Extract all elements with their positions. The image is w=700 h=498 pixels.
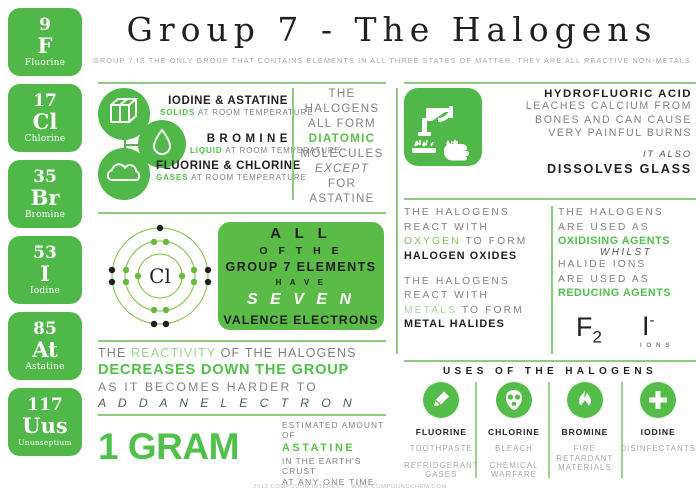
oxidising-agents-label: OXIDISING AGENTS <box>558 235 694 247</box>
reducing-agents-label: REDUCING AGENTS <box>558 287 694 299</box>
toothpaste-tube-icon <box>423 382 459 418</box>
liquid-sub: LIQUID AT ROOM TEMPERATURE <box>190 146 288 155</box>
fluorine-symbol: F <box>576 312 593 342</box>
fluorine-molecule-formula: F2 <box>576 312 602 347</box>
use-chlorine-name: CHLORINE <box>479 427 550 437</box>
divider <box>404 198 696 200</box>
element-tile: 17 Cl Chlorine <box>8 84 82 152</box>
reaction-oxygen-line-2: REACT WITH <box>404 221 546 236</box>
use-chlorine: CHLORINE BLEACH CHEMICAL WARFARE <box>479 382 550 482</box>
atom-symbol-label: Cl <box>149 264 171 288</box>
element-tile: 117 Uus Ununseptium <box>8 388 82 456</box>
element-tiles-column: 9 F Fluorine 17 Cl Chlorine 35 Br Bromin… <box>8 8 86 464</box>
iodide-ion-formula: I- <box>642 311 655 342</box>
astatine-description: ESTIMATED AMOUNT OF ASTATINE IN THE EART… <box>282 420 390 487</box>
atomic-number: 85 <box>33 321 57 338</box>
astatine-desc-3: IN THE EARTH'S CRUST <box>282 456 390 476</box>
divider <box>98 340 386 342</box>
hydrofluoric-icon-box <box>404 88 482 166</box>
reaction-metals-product: METAL HALIDES <box>404 318 546 330</box>
divider <box>404 82 696 84</box>
valence-line-1: A L L <box>270 225 332 242</box>
diatomic-line-1: THE <box>298 86 386 101</box>
valence-line-6: VALENCE ELECTRONS <box>223 313 378 327</box>
reaction-oxygen-product: HALOGEN OXIDES <box>404 250 546 262</box>
element-tile: 53 I Iodine <box>8 236 82 304</box>
cloud-icon <box>107 160 141 189</box>
element-name: Fluorine <box>25 59 65 68</box>
gases-state-rest: AT ROOM TEMPERATURE <box>189 173 307 182</box>
gases-state-word: GASES <box>156 173 189 182</box>
atomic-number: 9 <box>39 17 51 34</box>
reactivity-suffix: OF THE HALOGENS <box>216 346 357 360</box>
bohr-diagram: Cl <box>104 222 216 330</box>
cube-icon <box>109 98 139 131</box>
element-name: Bromine <box>25 211 65 220</box>
astatine-desc-1: ESTIMATED AMOUNT OF <box>282 420 390 440</box>
reaction-metals-line-2: REACT WITH <box>404 289 546 304</box>
valence-electrons-box: A L L O F T H E GROUP 7 ELEMENTS H A V E… <box>218 222 384 330</box>
corrosive-hazard-icon <box>404 88 482 166</box>
reaction-oxygen-rest: TO FORM <box>461 236 528 247</box>
gases-label: FLUORINE & CHLORINE GASES AT ROOM TEMPER… <box>156 160 288 182</box>
iodide-symbol: I <box>642 311 650 341</box>
divider <box>98 212 386 214</box>
agents-line-2: ARE USED AS <box>558 221 694 236</box>
diatomic-line-3: ALL FORM <box>298 116 386 131</box>
reactivity-line-3: AS IT BECOMES HARDER TO <box>98 380 386 394</box>
hydrofluoric-heading: HYDROFLUORIC ACID <box>496 88 692 100</box>
header: Group 7 - The Halogens GROUP 7 IS THE ON… <box>92 10 692 65</box>
infographic-page: 9 F Fluorine 17 Cl Chlorine 35 Br Bromin… <box>0 0 700 498</box>
diatomic-line-7: FOR <box>298 176 386 191</box>
use-fluorine-name: FLUORINE <box>404 427 479 437</box>
use-fluorine-2: REFRIDGERANT GASES <box>404 461 479 480</box>
element-tile: 85 At Astatine <box>8 312 82 380</box>
valence-line-2: O F T H E <box>259 245 342 257</box>
astatine-amount: 1 GRAM <box>98 426 239 468</box>
atomic-number: 35 <box>33 169 57 186</box>
reactions-panel: THE HALOGENS REACT WITH OXYGEN TO FORM H… <box>404 206 546 330</box>
element-symbol: I <box>40 263 50 284</box>
droplet-icon <box>152 128 172 161</box>
solids-state-rest: AT ROOM TEMPERATURE <box>195 108 313 117</box>
agents-panel: THE HALOGENS ARE USED AS OXIDISING AGENT… <box>558 206 694 299</box>
element-symbol: Uus <box>22 415 67 436</box>
element-symbol: At <box>32 339 58 360</box>
use-fluorine: FLUORINE TOOTHPASTE REFRIDGERANT GASES <box>404 382 479 482</box>
gases-sub: GASES AT ROOM TEMPERATURE <box>156 173 288 182</box>
use-bromine-name: BROMINE <box>549 427 620 437</box>
liquid-state-word: LIQUID <box>190 146 223 155</box>
page-subtitle: GROUP 7 IS THE ONLY GROUP THAT CONTAINS … <box>92 56 692 65</box>
divider <box>551 206 553 354</box>
liquid-headline: B R O M I N E <box>190 133 288 145</box>
reaction-metals-line-3: METALS TO FORM <box>404 304 546 319</box>
reaction-metals-rest: TO FORM <box>457 305 524 316</box>
valence-line-3: GROUP 7 ELEMENTS <box>226 260 377 274</box>
reaction-oxygen-line-3: OXYGEN TO FORM <box>404 235 546 250</box>
reactivity-prefix: THE <box>98 346 131 360</box>
divider <box>404 360 696 362</box>
use-iodine-2: DISINFECTANTS <box>620 444 696 454</box>
element-tile: 35 Br Bromine <box>8 160 82 228</box>
use-iodine-name: IODINE <box>620 427 696 437</box>
element-symbol: Cl <box>33 111 58 132</box>
hydrofluoric-body-1: LEACHES CALCIUM FROM <box>496 100 692 114</box>
reactivity-panel: THE REACTIVITY OF THE HALOGENS DECREASES… <box>98 346 386 410</box>
reactivity-line-4: A D D A N E L E C T R O N <box>98 396 386 410</box>
use-chlorine-1: BLEACH <box>479 444 550 454</box>
use-bromine-2: FIRE RETARDANT MATERIALS <box>549 444 620 473</box>
gases-headline: FLUORINE & CHLORINE <box>156 160 288 172</box>
divider <box>292 88 294 200</box>
reaction-metals-keyword: METALS <box>404 305 457 316</box>
agents-line-1: THE HALOGENS <box>558 206 694 221</box>
diatomic-line-2: HALOGENS <box>298 101 386 116</box>
liquid-label: B R O M I N E LIQUID AT ROOM TEMPERATURE <box>190 133 288 155</box>
atomic-number: 17 <box>33 93 57 110</box>
atomic-number: 117 <box>27 397 63 414</box>
element-name: Astatine <box>25 363 64 372</box>
element-symbol: F <box>38 35 53 56</box>
ions-label: I O N S <box>640 342 671 349</box>
reactivity-line-2: DECREASES DOWN THE GROUP <box>98 362 386 378</box>
solids-headline: IODINE & ASTATINE <box>160 95 288 107</box>
divider <box>396 88 398 354</box>
solids-label: IODINE & ASTATINE SOLIDS AT ROOM TEMPERA… <box>160 95 288 117</box>
atomic-number: 53 <box>33 245 57 262</box>
reactivity-keyword: REACTIVITY <box>131 346 216 360</box>
hydrofluoric-body-3: VERY PAINFUL BURNS <box>496 127 692 141</box>
use-fluorine-1: TOOTHPASTE <box>404 444 479 454</box>
diatomic-except: EXCEPT <box>298 161 386 176</box>
reaction-oxygen-line-1: THE HALOGENS <box>404 206 546 221</box>
flame-icon <box>567 382 603 418</box>
plus-cross-icon <box>640 382 676 418</box>
iodide-charge: - <box>650 312 655 329</box>
diatomic-line-8: ASTATINE <box>298 191 386 206</box>
divider <box>98 82 386 84</box>
element-name: Ununseptium <box>18 439 71 447</box>
diatomic-panel: THE HALOGENS ALL FORM DIATOMIC MOLECULES… <box>298 86 386 206</box>
use-bromine: BROMINE FIRE RETARDANT MATERIALS <box>549 382 620 482</box>
diatomic-line-5: MOLECULES <box>298 146 386 161</box>
gas-mask-icon <box>496 382 532 418</box>
element-tile: 9 F Fluorine <box>8 8 82 76</box>
fluorine-subscript: 2 <box>593 327 602 346</box>
valence-line-4: H A V E <box>276 278 327 287</box>
footer-credit: 2013 COMPOUND INTEREST - WWW.COMPOUNDCHE… <box>0 484 700 490</box>
solids-sub: SOLIDS AT ROOM TEMPERATURE <box>160 108 288 117</box>
valence-line-5: S E V E N <box>247 291 355 309</box>
hydrofluoric-body-2: BONES AND CAN CAUSE <box>496 114 692 128</box>
diatomic-keyword: DIATOMIC <box>298 131 386 146</box>
divider <box>98 414 386 416</box>
hydrofluoric-emphasis: DISSOLVES GLASS <box>496 162 692 176</box>
reactivity-line-1: THE REACTIVITY OF THE HALOGENS <box>98 346 386 360</box>
uses-section-title: USES OF THE HALOGENS <box>404 366 696 377</box>
element-name: Chlorine <box>25 135 66 144</box>
use-chlorine-2: CHEMICAL WARFARE <box>479 461 550 480</box>
states-of-matter-panel: IODINE & ASTATINE SOLIDS AT ROOM TEMPERA… <box>98 88 288 200</box>
reaction-metals-line-1: THE HALOGENS <box>404 275 546 290</box>
use-iodine: IODINE DISINFECTANTS <box>620 382 696 482</box>
gases-icon-badge <box>98 148 150 200</box>
element-symbol: Br <box>31 187 60 208</box>
element-name: Iodine <box>30 287 60 296</box>
uses-row: FLUORINE TOOTHPASTE REFRIDGERANT GASES C… <box>404 382 696 482</box>
hydrofluoric-italic: IT ALSO <box>496 149 692 160</box>
astatine-desc-2: ASTATINE <box>282 442 390 454</box>
page-title: Group 7 - The Halogens <box>92 10 692 49</box>
hydrofluoric-text: HYDROFLUORIC ACID LEACHES CALCIUM FROM B… <box>496 88 692 176</box>
agents-whilst: WHILST <box>558 247 694 258</box>
formulas-row: F2 I- I O N S <box>558 312 694 354</box>
agents-line-3: HALIDE IONS <box>558 258 694 273</box>
solids-state-word: SOLIDS <box>160 108 195 117</box>
agents-line-4: ARE USED AS <box>558 273 694 288</box>
reaction-oxygen-keyword: OXYGEN <box>404 236 461 247</box>
